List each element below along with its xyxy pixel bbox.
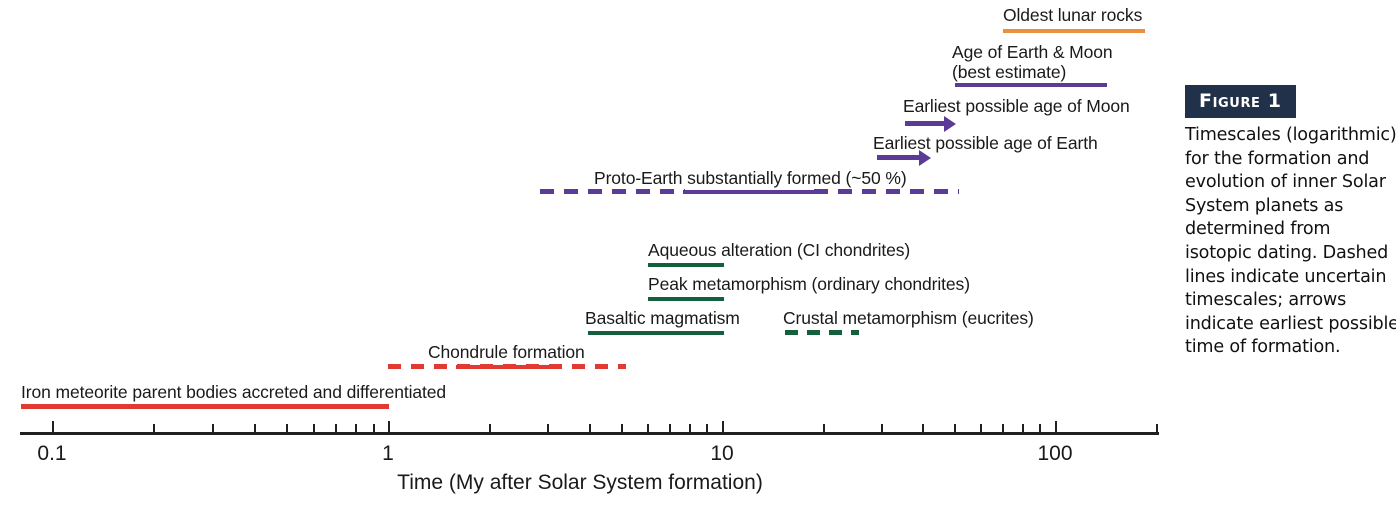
- timeline-chart: Oldest lunar rocks Age of Earth & Moon (…: [0, 0, 1170, 507]
- axis-tick-minor: [922, 424, 924, 432]
- axis-tick-minor: [954, 424, 956, 432]
- bar-proto-earth-dashed-left: [540, 189, 685, 194]
- axis-ticklabel-10: 10: [710, 442, 733, 466]
- label-iron-meteorite: Iron meteorite parent bodies accreted an…: [21, 382, 446, 402]
- bar-oldest-lunar-rocks: [1003, 29, 1145, 33]
- axis-tick-minor: [647, 424, 649, 432]
- axis-ticklabel-100: 100: [1037, 442, 1072, 466]
- label-age-earth-moon: Age of Earth & Moon: [952, 42, 1113, 62]
- axis-tick-minor: [1002, 424, 1004, 432]
- axis-tick-minor: [1039, 424, 1041, 432]
- label-age-earth-moon-sub: (best estimate): [952, 62, 1066, 82]
- axis-tick-minor: [489, 424, 491, 432]
- label-proto-earth: Proto-Earth substantially formed (~50 %): [594, 168, 907, 188]
- axis-tick-minor: [335, 424, 337, 432]
- axis-tick-1: [388, 421, 390, 432]
- bar-chondrule-formation-solid: [456, 365, 555, 369]
- axis-tick-minor: [313, 424, 315, 432]
- axis-tick-minor: [980, 424, 982, 432]
- label-peak-metamorphism: Peak metamorphism (ordinary chondrites): [648, 274, 970, 294]
- bar-proto-earth-solid: [683, 190, 816, 194]
- axis-tick-minor: [286, 424, 288, 432]
- label-basaltic-magmatism: Basaltic magmatism: [585, 308, 740, 328]
- label-earliest-age-earth: Earliest possible age of Earth: [873, 133, 1098, 153]
- label-earliest-age-moon: Earliest possible age of Moon: [903, 96, 1130, 116]
- axis-line: [20, 432, 1159, 435]
- bar-aqueous-alteration: [648, 263, 724, 267]
- axis-tick-minor: [706, 424, 708, 432]
- figure-caption-panel: Figure 1 Timescales (logarithmic) for th…: [1170, 0, 1396, 507]
- axis-tick-minor: [669, 424, 671, 432]
- bar-basaltic-magmatism: [588, 331, 724, 335]
- axis-ticklabel-1: 1: [382, 442, 394, 466]
- bar-iron-meteorite: [21, 404, 389, 409]
- axis-tick-minor: [881, 424, 883, 432]
- label-aqueous-alteration: Aqueous alteration (CI chondrites): [648, 240, 910, 260]
- bar-crustal-metamorphism: [785, 330, 859, 335]
- axis-tick-100: [1055, 421, 1057, 432]
- axis-tick-10: [722, 421, 724, 432]
- axis-tick-minor: [547, 424, 549, 432]
- axis-tick-minor: [212, 424, 214, 432]
- arrow-earliest-age-moon: [905, 121, 945, 126]
- axis-tick-minor: [373, 424, 375, 432]
- axis-tick-minor: [689, 424, 691, 432]
- axis-tick-minor: [823, 424, 825, 432]
- axis-tick-minor: [621, 424, 623, 432]
- axis-tick-minor: [254, 424, 256, 432]
- figure-number-badge: Figure 1: [1185, 85, 1296, 118]
- axis-tick-minor: [1022, 424, 1024, 432]
- label-chondrule-formation: Chondrule formation: [428, 342, 585, 362]
- label-oldest-lunar-rocks: Oldest lunar rocks: [1003, 5, 1142, 25]
- axis-tick-0.1: [52, 421, 54, 432]
- axis-ticklabel-0.1: 0.1: [37, 442, 66, 466]
- arrow-earliest-age-earth: [877, 155, 920, 160]
- figure-caption-text: Timescales (logarithmic) for the formati…: [1185, 124, 1396, 360]
- time-axis: 0.1 1 10 100 Time (My after Solar System…: [0, 432, 1170, 507]
- bar-age-earth-moon: [955, 83, 1107, 87]
- bar-peak-metamorphism: [648, 297, 724, 301]
- axis-tick-minor: [1156, 424, 1158, 432]
- axis-tick-minor: [355, 424, 357, 432]
- label-crustal-metamorphism: Crustal metamorphism (eucrites): [783, 308, 1034, 328]
- axis-tick-minor: [153, 424, 155, 432]
- axis-title: Time (My after Solar System formation): [0, 471, 1160, 495]
- bar-proto-earth-dashed-right: [814, 189, 959, 194]
- axis-tick-minor: [589, 424, 591, 432]
